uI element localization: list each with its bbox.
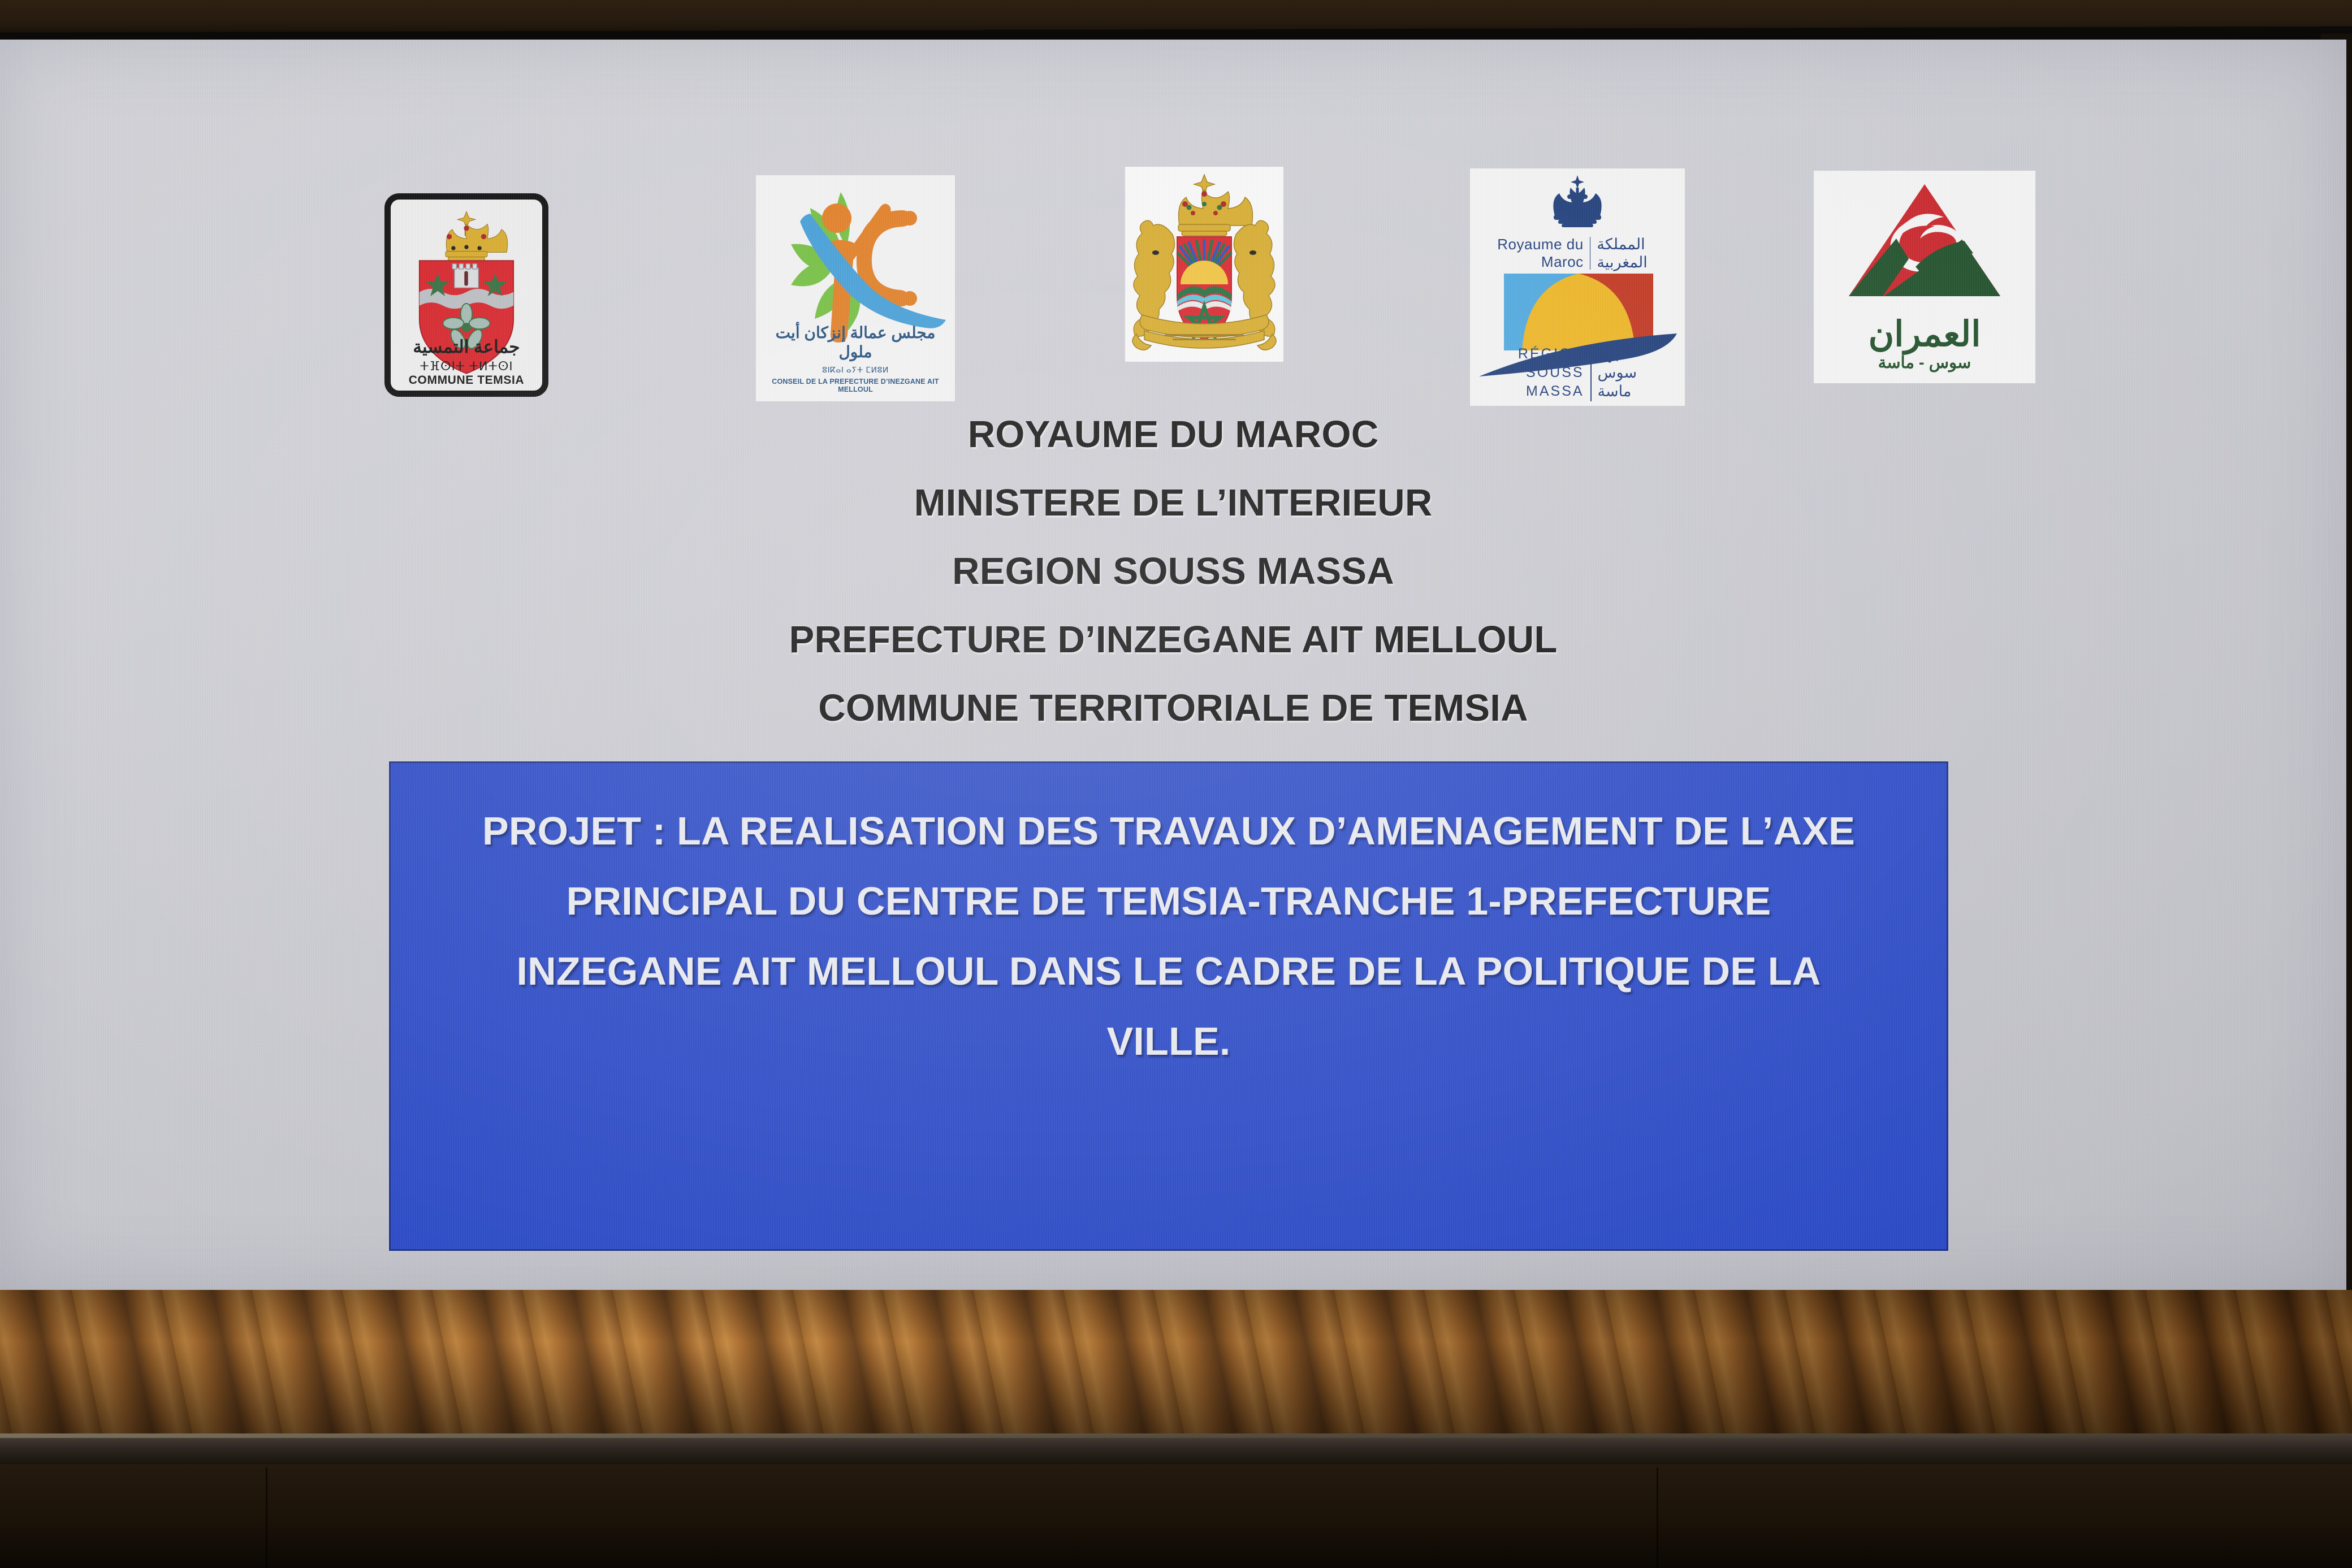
heading-line-royaume: ROYAUME DU MAROC <box>0 413 2346 456</box>
conseil-prefecture-logo: مجلس عمالة إنزكان أيت ملول ⵓⵏⴽⴰⵏ ⴰⵢⵜ ⵎⵍⵓ… <box>756 175 955 401</box>
cabinet-seam-right <box>1657 1467 1658 1568</box>
region-souss-massa-logo: Royaume du Maroc المملكة المغربية RÉGION… <box>1470 168 1685 406</box>
project-title-line-4: VILLE. <box>391 1006 1947 1076</box>
commune-temsia-logo: جماعة التمسية ⵜⴼⵙⵏⵜ ⵜⵍⵜⵙⵏ COMMUNE TEMSIA <box>384 193 548 397</box>
ledge-shelf <box>0 1433 2352 1467</box>
al-omrane-arabic-title: العمران <box>1814 313 2035 354</box>
logo-row: جماعة التمسية ⵜⴼⵙⵏⵜ ⵜⵍⵜⵙⵏ COMMUNE TEMSIA <box>0 40 2346 311</box>
royaume-crown-icon <box>1470 172 1685 235</box>
region-royaume-french: Royaume du Maroc <box>1470 236 1590 271</box>
commune-temsia-arabic: جماعة التمسية <box>391 337 542 357</box>
commune-temsia-tifinagh: ⵜⴼⵙⵏⵜ ⵜⵍⵜⵙⵏ <box>391 359 542 374</box>
conseil-prefecture-tifinagh: ⵓⵏⴽⴰⵏ ⴰⵢⵜ ⵎⵍⵓⵍ <box>756 365 955 375</box>
morocco-coat-of-arms-logo <box>1125 167 1283 362</box>
conseil-prefecture-arabic: مجلس عمالة إنزكان أيت ملول <box>756 323 955 362</box>
project-title-box: PROJET : LA REALISATION DES TRAVAUX D’AM… <box>389 761 1948 1251</box>
wooden-plank-wall <box>0 1290 2352 1437</box>
al-omrane-logo: العمران سوس - ماسة <box>1814 171 2035 383</box>
commune-temsia-latin: COMMUNE TEMSIA <box>391 374 542 387</box>
project-title-line-2: PRINCIPAL DU CENTRE DE TEMSIA-TRANCHE 1-… <box>391 866 1947 936</box>
region-royaume-arabic: المملكة المغربية <box>1590 235 1685 271</box>
project-title-line-3: INZEGANE AIT MELLOUL DANS LE CADRE DE LA… <box>391 936 1947 1006</box>
heading-line-ministere: MINISTERE DE L’INTERIEUR <box>0 481 2346 525</box>
wood-shading <box>0 1290 2352 1437</box>
ledge-highlight <box>0 1433 2352 1438</box>
cabinet-seam-left <box>266 1467 267 1568</box>
projection-screen: جماعة التمسية ⵜⴼⵙⵏⵜ ⵜⵍⵜⵙⵏ COMMUNE TEMSIA <box>0 40 2346 1292</box>
cabinet-below <box>0 1464 2352 1568</box>
heading-line-prefecture: PREFECTURE D’INZEGANE AIT MELLOUL <box>0 618 2346 661</box>
project-title-line-1: PROJET : LA REALISATION DES TRAVAUX D’AM… <box>391 796 1947 866</box>
slide-heading-block: ROYAUME DU MAROC MINISTERE DE L’INTERIEU… <box>0 413 2346 730</box>
heading-line-region: REGION SOUSS MASSA <box>0 549 2346 593</box>
meeting-room-background: جماعة التمسية ⵜⴼⵙⵏⵜ ⵜⵍⵜⵙⵏ COMMUNE TEMSIA <box>0 0 2352 1568</box>
project-title-text: PROJET : LA REALISATION DES TRAVAUX D’AM… <box>391 796 1947 1076</box>
morocco-coat-of-arms-icon <box>1125 167 1283 362</box>
conseil-prefecture-latin: CONSEIL DE LA PREFECTURE D’INEZGANE AIT … <box>756 378 955 393</box>
al-omrane-mark-icon <box>1814 176 2035 312</box>
heading-line-commune: COMMUNE TERRITORIALE DE TEMSIA <box>0 686 2346 730</box>
al-omrane-arabic-sub: سوس - ماسة <box>1814 353 2035 372</box>
region-name-arabic: جهة سوس ماسة <box>1592 345 1637 401</box>
region-name-french: RÉGION SOUSS MASSA <box>1518 345 1590 401</box>
